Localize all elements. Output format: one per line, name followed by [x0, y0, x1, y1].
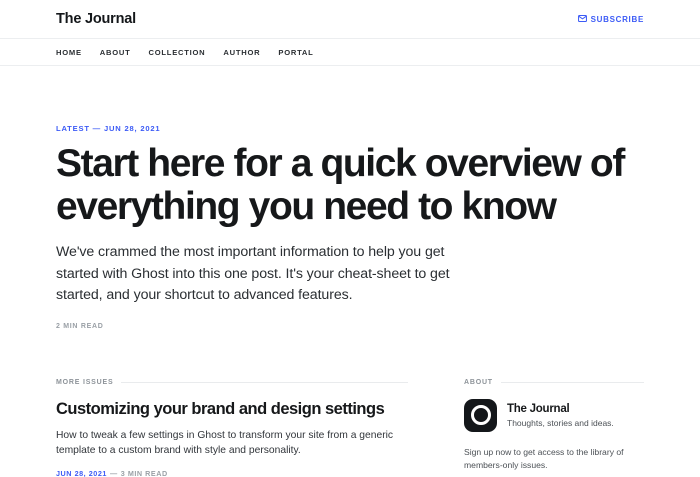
post-card-meta: JUN 28, 2021—3 MIN READ [56, 469, 408, 477]
about-heading: ABOUT [464, 379, 644, 386]
site-header: The Journal SUBSCRIBE [0, 0, 700, 39]
hero-excerpt: We've crammed the most important informa… [56, 242, 474, 307]
about-site-name: The Journal [507, 403, 614, 415]
lower-grid: MORE ISSUES Customizing your brand and d… [0, 379, 700, 477]
ring-avatar-icon [464, 399, 497, 432]
envelope-icon [578, 15, 587, 24]
hero-article: LATEST — JUN 28, 2021 Start here for a q… [0, 124, 700, 330]
about-text-block: The Journal Thoughts, stories and ideas. [507, 403, 614, 428]
more-issues-heading: MORE ISSUES [56, 379, 408, 386]
avatar-ring-shape [471, 405, 491, 425]
section-divider [501, 382, 644, 383]
nav-item-home[interactable]: HOME [56, 48, 82, 57]
about-identity: The Journal Thoughts, stories and ideas. [464, 399, 644, 432]
about-description: Thoughts, stories and ideas. [507, 418, 614, 428]
post-card-read-time: 3 MIN READ [121, 469, 168, 477]
post-card-date[interactable]: JUN 28, 2021 [56, 469, 107, 477]
nav-item-collection[interactable]: COLLECTION [149, 48, 206, 57]
post-card-excerpt: How to tweak a few settings in Ghost to … [56, 428, 404, 459]
post-card-title[interactable]: Customizing your brand and design settin… [56, 399, 408, 419]
hero-kicker: LATEST — JUN 28, 2021 [56, 124, 644, 133]
more-issues-label: MORE ISSUES [56, 379, 113, 386]
site-title: The Journal [56, 12, 136, 27]
nav-item-about[interactable]: ABOUT [100, 48, 131, 57]
section-divider [121, 382, 408, 383]
nav-item-portal[interactable]: PORTAL [278, 48, 313, 57]
about-sidebar: ABOUT The Journal Thoughts, stories and … [464, 379, 644, 477]
about-label: ABOUT [464, 379, 493, 386]
site-nav: HOME ABOUT COLLECTION AUTHOR PORTAL [0, 39, 700, 66]
hero-read-time: 2 MIN READ [56, 323, 644, 330]
hero-title[interactable]: Start here for a quick overview of every… [56, 142, 626, 228]
header-subscribe-button[interactable]: SUBSCRIBE [578, 15, 644, 24]
more-issues-column: MORE ISSUES Customizing your brand and d… [56, 379, 408, 477]
about-cta-text: Sign up now to get access to the library… [464, 446, 634, 472]
post-card: Customizing your brand and design settin… [56, 399, 408, 477]
nav-item-author[interactable]: AUTHOR [223, 48, 260, 57]
post-card-meta-sep: — [107, 469, 121, 477]
header-subscribe-label: SUBSCRIBE [591, 15, 644, 24]
page-root: The Journal SUBSCRIBE HOME ABOUT COLLECT… [0, 0, 700, 477]
